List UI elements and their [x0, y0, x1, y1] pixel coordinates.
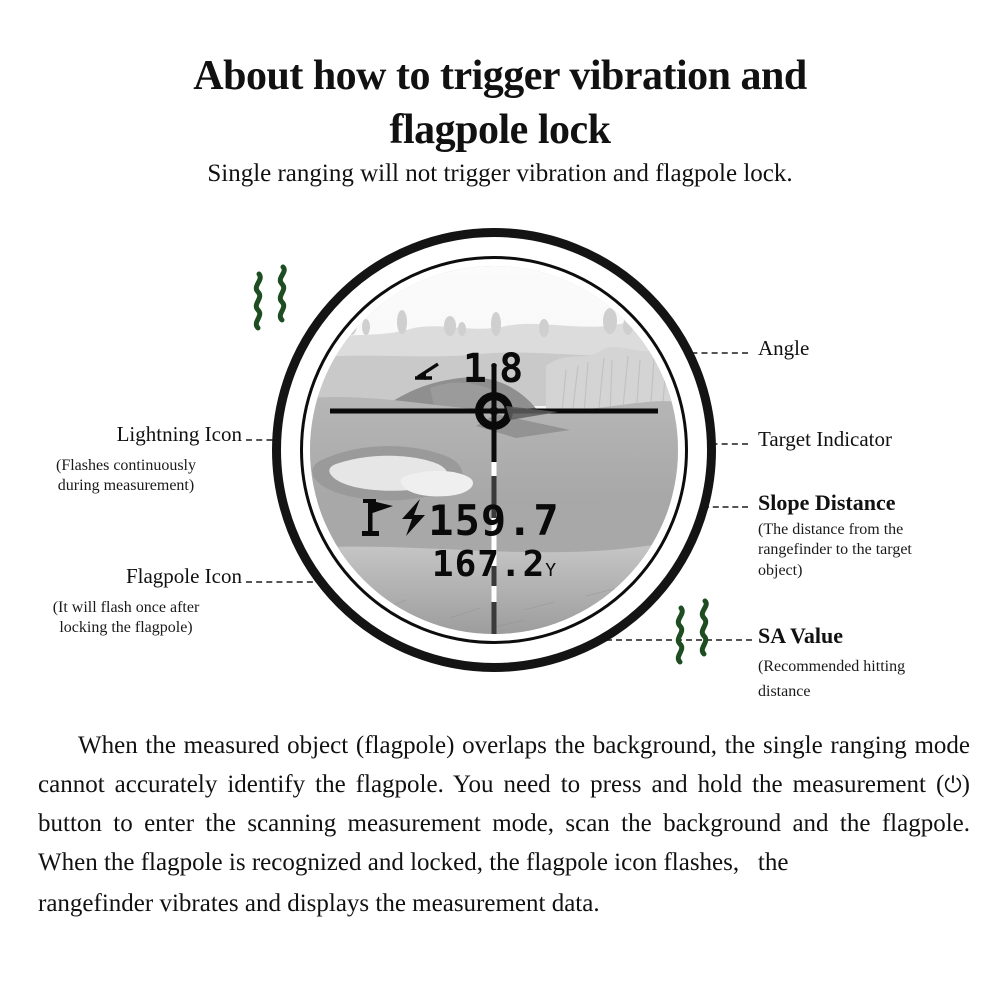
scope-lens-view [310, 266, 678, 634]
page-title: About how to trigger vibration and flagp… [0, 50, 1000, 158]
callout-flagpole-note-line2: locking the flagpole) [8, 618, 244, 638]
page-title-line1: About how to trigger vibration and [193, 53, 806, 99]
callout-angle-title: Angle [758, 336, 809, 361]
callout-lightning-note-line2: during measurement) [8, 476, 244, 496]
power-button-icon: ⏻ [944, 772, 961, 797]
callout-lightning-note: (Flashes continuously during measurement… [8, 456, 244, 497]
golf-course-scene [310, 266, 678, 634]
callout-lightning-icon: Lightning Icon [10, 422, 242, 447]
callout-target-indicator: Target Indicator [758, 427, 892, 452]
page-subtitle: Single ranging will not trigger vibratio… [0, 160, 1000, 188]
callout-slope-title: Slope Distance [758, 490, 996, 516]
callout-target-indicator-title: Target Indicator [758, 427, 892, 452]
callout-flagpole-title: Flagpole Icon [10, 564, 242, 589]
callout-lightning-title: Lightning Icon [10, 422, 242, 447]
body-paragraph-part1: When the measured object (flagpole) over… [38, 732, 970, 798]
callout-lightning-note-line1: (Flashes continuously [8, 456, 244, 476]
callout-angle: Angle [758, 336, 809, 361]
callout-flagpole-note-line1: (It will flash once after [8, 598, 244, 618]
callout-sa-title: SA Value [758, 623, 996, 649]
body-paragraph: When the measured object (flagpole) over… [38, 726, 970, 923]
body-paragraph-last-line: rangefinder vibrates and displays the me… [38, 884, 970, 923]
vibration-waves-icon-left [246, 262, 320, 334]
callout-slope-note-line1: (The distance from the [758, 520, 996, 540]
page-title-line2: flagpole lock [0, 104, 1000, 158]
callout-flagpole-note: (It will flash once after locking the fl… [8, 598, 244, 639]
callout-flagpole-icon: Flagpole Icon [10, 564, 242, 589]
callout-slope-distance: Slope Distance (The distance from the ra… [758, 490, 996, 581]
callout-slope-note-line3: object) [758, 561, 996, 581]
callout-sa-note-line1: (Recommended hitting [758, 655, 996, 680]
callout-sa-value: SA Value (Recommended hitting distance [758, 623, 996, 705]
rangefinder-scope: 1°8 159.7 167.2Y [272, 228, 716, 672]
callout-sa-note-line2: distance [758, 680, 996, 705]
vibration-waves-icon-right [668, 596, 742, 668]
page-root: About how to trigger vibration and flagp… [0, 0, 1000, 1000]
callout-slope-note-line2: rangefinder to the target [758, 540, 996, 560]
